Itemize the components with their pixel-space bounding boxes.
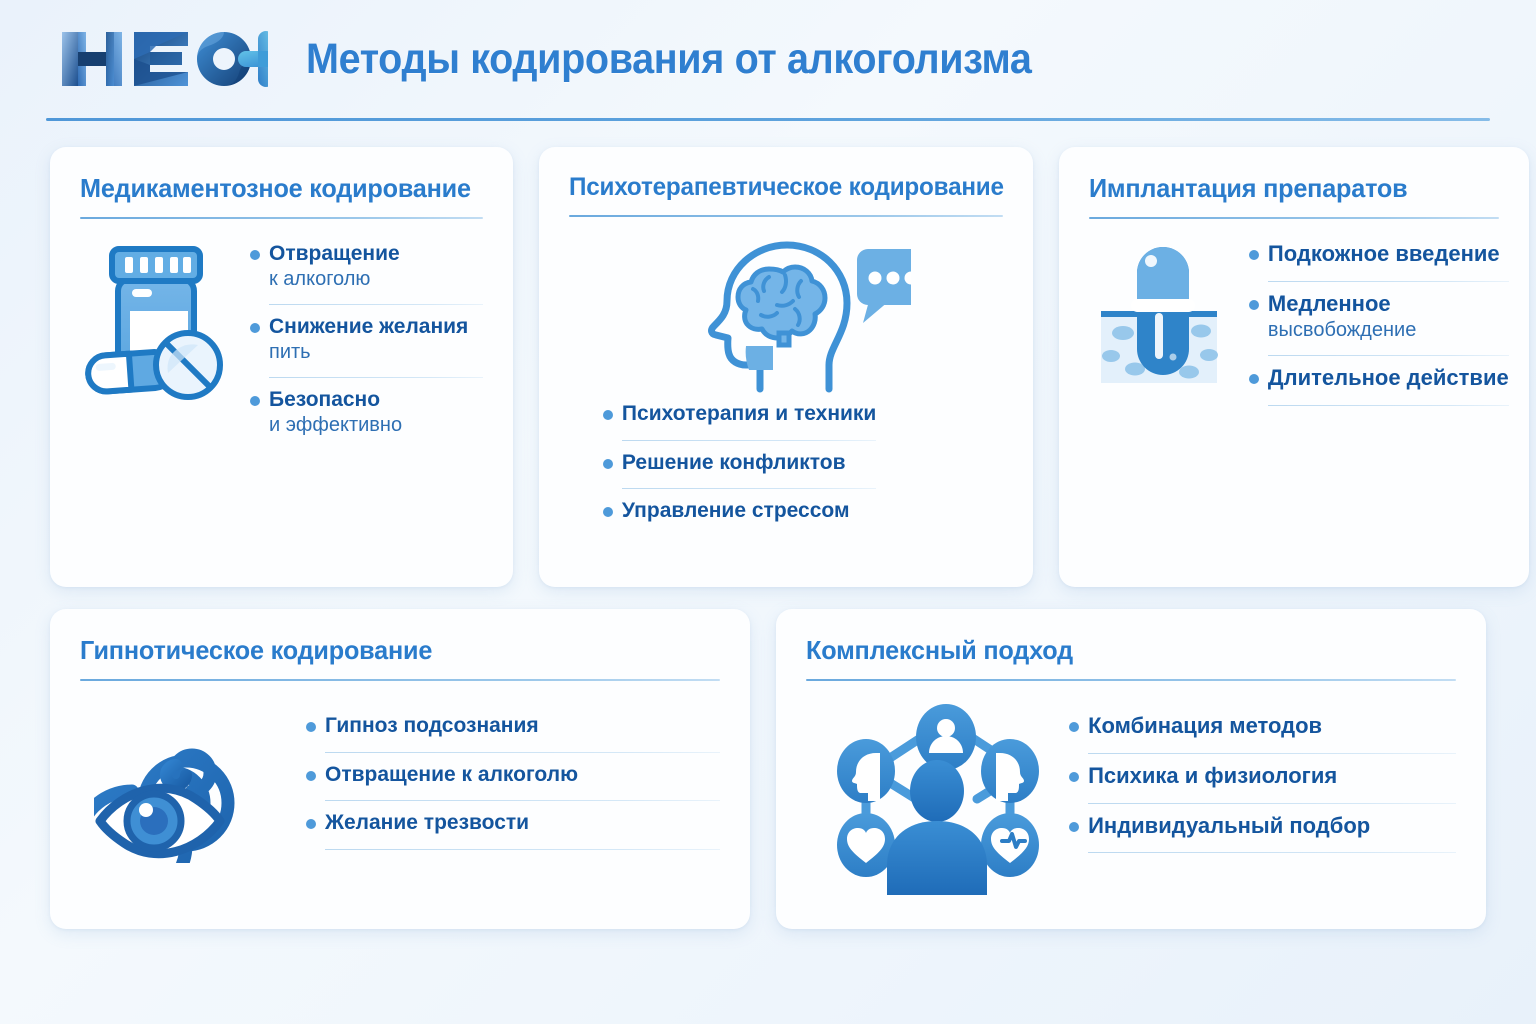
head-brain-speech-icon — [661, 233, 911, 393]
bullet-line-primary: Управление стрессом — [622, 499, 850, 522]
neo-plus-logo — [58, 28, 268, 90]
list-separator — [1088, 753, 1456, 754]
bullet-dot-icon — [1069, 772, 1079, 782]
list-separator — [622, 488, 876, 489]
list-item[interactable]: Снижение желания пить — [250, 314, 483, 368]
card-title-complex-approach: Комплексный подход — [806, 635, 1436, 666]
card-divider — [1089, 217, 1499, 219]
bullet-dot-icon — [306, 771, 316, 781]
bullet-line-primary: Отвращение — [269, 242, 400, 265]
list-separator — [1268, 405, 1509, 406]
infographic-page: Методы кодирования от алкоголизма Медика… — [0, 0, 1536, 1024]
list-item[interactable]: Решение конфликтов — [603, 450, 876, 480]
bullet-dot-icon — [1249, 374, 1259, 384]
bullet-dot-icon — [250, 323, 260, 333]
bullet-dot-icon — [1249, 300, 1259, 310]
people-network-icon — [806, 703, 1039, 903]
card-title-psychotherapy: Психотерапевтическое кодирование — [569, 173, 990, 202]
list-separator — [1088, 803, 1456, 804]
capsule-implant-icon — [1089, 241, 1229, 391]
card-medication[interactable]: Медикаментозное кодирование — [50, 147, 513, 587]
bullet-list-psychotherapy: Психотерапия и техники Решение конфликто… — [603, 401, 876, 528]
list-item[interactable]: Безопасно и эффективно — [250, 387, 483, 441]
list-item[interactable]: Комбинация методов — [1069, 713, 1456, 744]
card-title-hypnosis: Гипнотическое кодирование — [80, 635, 701, 666]
list-separator — [269, 377, 483, 378]
card-divider — [80, 679, 720, 681]
bullet-dot-icon — [306, 819, 316, 829]
bullet-line-primary: Отвращение к алкоголю — [325, 763, 578, 786]
list-separator — [269, 304, 483, 305]
card-divider — [806, 679, 1456, 681]
list-item[interactable]: Длительное действие — [1249, 365, 1509, 396]
list-separator — [1088, 852, 1456, 853]
bullet-dot-icon — [1249, 250, 1259, 260]
bullet-line-primary: Комбинация методов — [1088, 713, 1322, 738]
bullet-dot-icon — [250, 250, 260, 260]
page-header: Методы кодирования от алкоголизма — [44, 0, 1492, 118]
bullet-line-primary: Психотерапия и техники — [622, 402, 876, 425]
bullet-list-implantation: Подкожное введение Медленное высвобожден… — [1249, 241, 1509, 415]
bullet-dot-icon — [250, 396, 260, 406]
list-separator — [325, 752, 720, 753]
bullet-list-medication: Отвращение к алкоголю Снижение желания п… — [250, 241, 483, 441]
list-item[interactable]: Отвращение к алкоголю — [306, 762, 720, 792]
bullet-line-primary: Подкожное введение — [1268, 241, 1500, 266]
bullet-dot-icon — [1069, 822, 1079, 832]
bullet-line-primary: Гипноз подсознания — [325, 714, 539, 737]
list-separator — [1268, 355, 1509, 356]
bullet-line-primary: Желание трезвости — [325, 811, 529, 834]
bullet-line-secondary: и эффективно — [269, 414, 402, 436]
list-item[interactable]: Гипноз подсознания — [306, 713, 720, 743]
bullet-line-primary: Индивидуальный подбор — [1088, 813, 1370, 838]
page-title: Методы кодирования от алкоголизма — [306, 35, 1032, 84]
bullet-line-primary: Психика и физиология — [1088, 763, 1337, 788]
bullet-dot-icon — [306, 722, 316, 732]
bullet-line-secondary: к алкоголю — [269, 268, 370, 290]
bullet-list-complex-approach: Комбинация методов Психика и физиология — [1069, 713, 1456, 862]
list-item[interactable]: Подкожное введение — [1249, 241, 1509, 272]
list-separator — [1268, 281, 1509, 282]
bullet-list-hypnosis: Гипноз подсознания Отвращение к алкоголю — [306, 713, 720, 859]
card-divider — [80, 217, 483, 219]
card-implantation[interactable]: Имплантация препаратов — [1059, 147, 1529, 587]
bullet-line-secondary: высвобождение — [1268, 319, 1416, 341]
bullet-line-primary: Безопасно — [269, 388, 380, 411]
list-item[interactable]: Психика и физиология — [1069, 763, 1456, 794]
list-item[interactable]: Управление стрессом — [603, 498, 876, 528]
header-divider — [46, 118, 1490, 121]
card-title-medication: Медикаментозное кодирование — [80, 173, 471, 204]
card-title-implantation: Имплантация препаратов — [1089, 173, 1487, 204]
bullet-line-primary: Медленное — [1268, 291, 1391, 316]
list-item[interactable]: Медленное высвобождение — [1249, 291, 1509, 346]
card-hypnosis[interactable]: Гипнотическое кодирование — [50, 609, 750, 929]
card-complex-approach[interactable]: Комплексный подход — [776, 609, 1486, 929]
list-item[interactable]: Желание трезвости — [306, 810, 720, 840]
card-divider — [569, 215, 1003, 217]
bullet-line-secondary: пить — [269, 341, 311, 363]
list-item[interactable]: Отвращение к алкоголю — [250, 241, 483, 295]
hypnosis-eye-spiral-icon — [80, 703, 264, 863]
list-item[interactable]: Психотерапия и техники — [603, 401, 876, 431]
cards-row-bottom: Гипнотическое кодирование — [44, 609, 1492, 929]
cards-row-top: Медикаментозное кодирование — [44, 147, 1492, 587]
bullet-dot-icon — [603, 410, 613, 420]
list-separator — [325, 849, 720, 850]
list-separator — [325, 800, 720, 801]
bullet-dot-icon — [603, 459, 613, 469]
list-separator — [622, 440, 876, 441]
list-item[interactable]: Индивидуальный подбор — [1069, 813, 1456, 844]
pill-bottle-icon — [80, 241, 230, 401]
bullet-dot-icon — [603, 507, 613, 517]
bullet-dot-icon — [1069, 722, 1079, 732]
card-psychotherapy[interactable]: Психотерапевтическое кодирование — [539, 147, 1033, 587]
bullet-line-primary: Снижение желания — [269, 315, 468, 338]
bullet-line-primary: Длительное действие — [1268, 365, 1509, 390]
bullet-line-primary: Решение конфликтов — [622, 451, 846, 474]
